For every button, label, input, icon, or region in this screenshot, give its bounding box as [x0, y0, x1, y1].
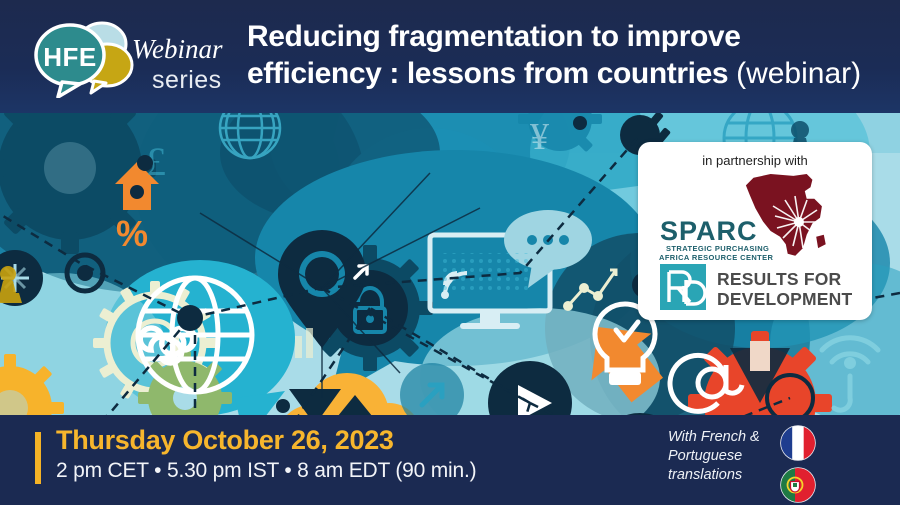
hfe-acronym: HFE [43, 42, 97, 72]
translations-note: With French & Portuguese translations [668, 428, 778, 485]
translations-line-2: Portuguese [668, 447, 778, 466]
svg-text:%: % [475, 408, 511, 415]
webinar-banner: % % [0, 0, 900, 505]
accent-bar [35, 432, 41, 484]
sparc-logo: SPARC STRATEGIC PURCHASING AFRICA RESOUR… [656, 172, 856, 262]
banner-header: HFE Webinar series Reducing fragmentatio… [0, 0, 900, 113]
r4d-logo: RESULTS FOR DEVELOPMENT [660, 264, 865, 312]
r4d-name-2: DEVELOPMENT [717, 289, 853, 309]
webinar-series-wordmark: Webinar series [128, 20, 238, 98]
sparc-acronym: SPARC [660, 216, 758, 246]
svg-text:%: % [116, 213, 148, 254]
translations-line-1: With French & [668, 428, 778, 447]
language-flags [779, 424, 817, 505]
svg-text:¥: ¥ [530, 116, 549, 158]
partner-card: in partnership with [638, 142, 872, 320]
translations-line-3: translations [668, 466, 778, 485]
script-series: series [152, 66, 222, 94]
title-line-1: Reducing fragmentation to improve [247, 18, 892, 55]
script-webinar: Webinar [132, 34, 223, 64]
banner-title: Reducing fragmentation to improve effici… [247, 18, 892, 92]
sparc-tagline-1: STRATEGIC PURCHASING [666, 244, 769, 253]
title-line-2-bold: efficiency : lessons from countries [247, 57, 728, 90]
portugal-flag-icon [779, 466, 817, 504]
title-line-2-paren: (webinar) [736, 57, 861, 90]
date-block: Thursday October 26, 2023 2 pm CET • 5.3… [56, 424, 476, 484]
partner-heading: in partnership with [638, 153, 872, 168]
webinar-date: Thursday October 26, 2023 [56, 424, 476, 456]
france-flag-icon [779, 424, 817, 462]
r4d-name-1: RESULTS FOR [717, 269, 842, 289]
webinar-times: 2 pm CET • 5.30 pm IST • 8 am EDT (90 mi… [56, 457, 476, 484]
title-line-2: efficiency : lessons from countries (web… [247, 55, 892, 92]
sparc-tagline-2: AFRICA RESOURCE CENTER [659, 253, 774, 262]
